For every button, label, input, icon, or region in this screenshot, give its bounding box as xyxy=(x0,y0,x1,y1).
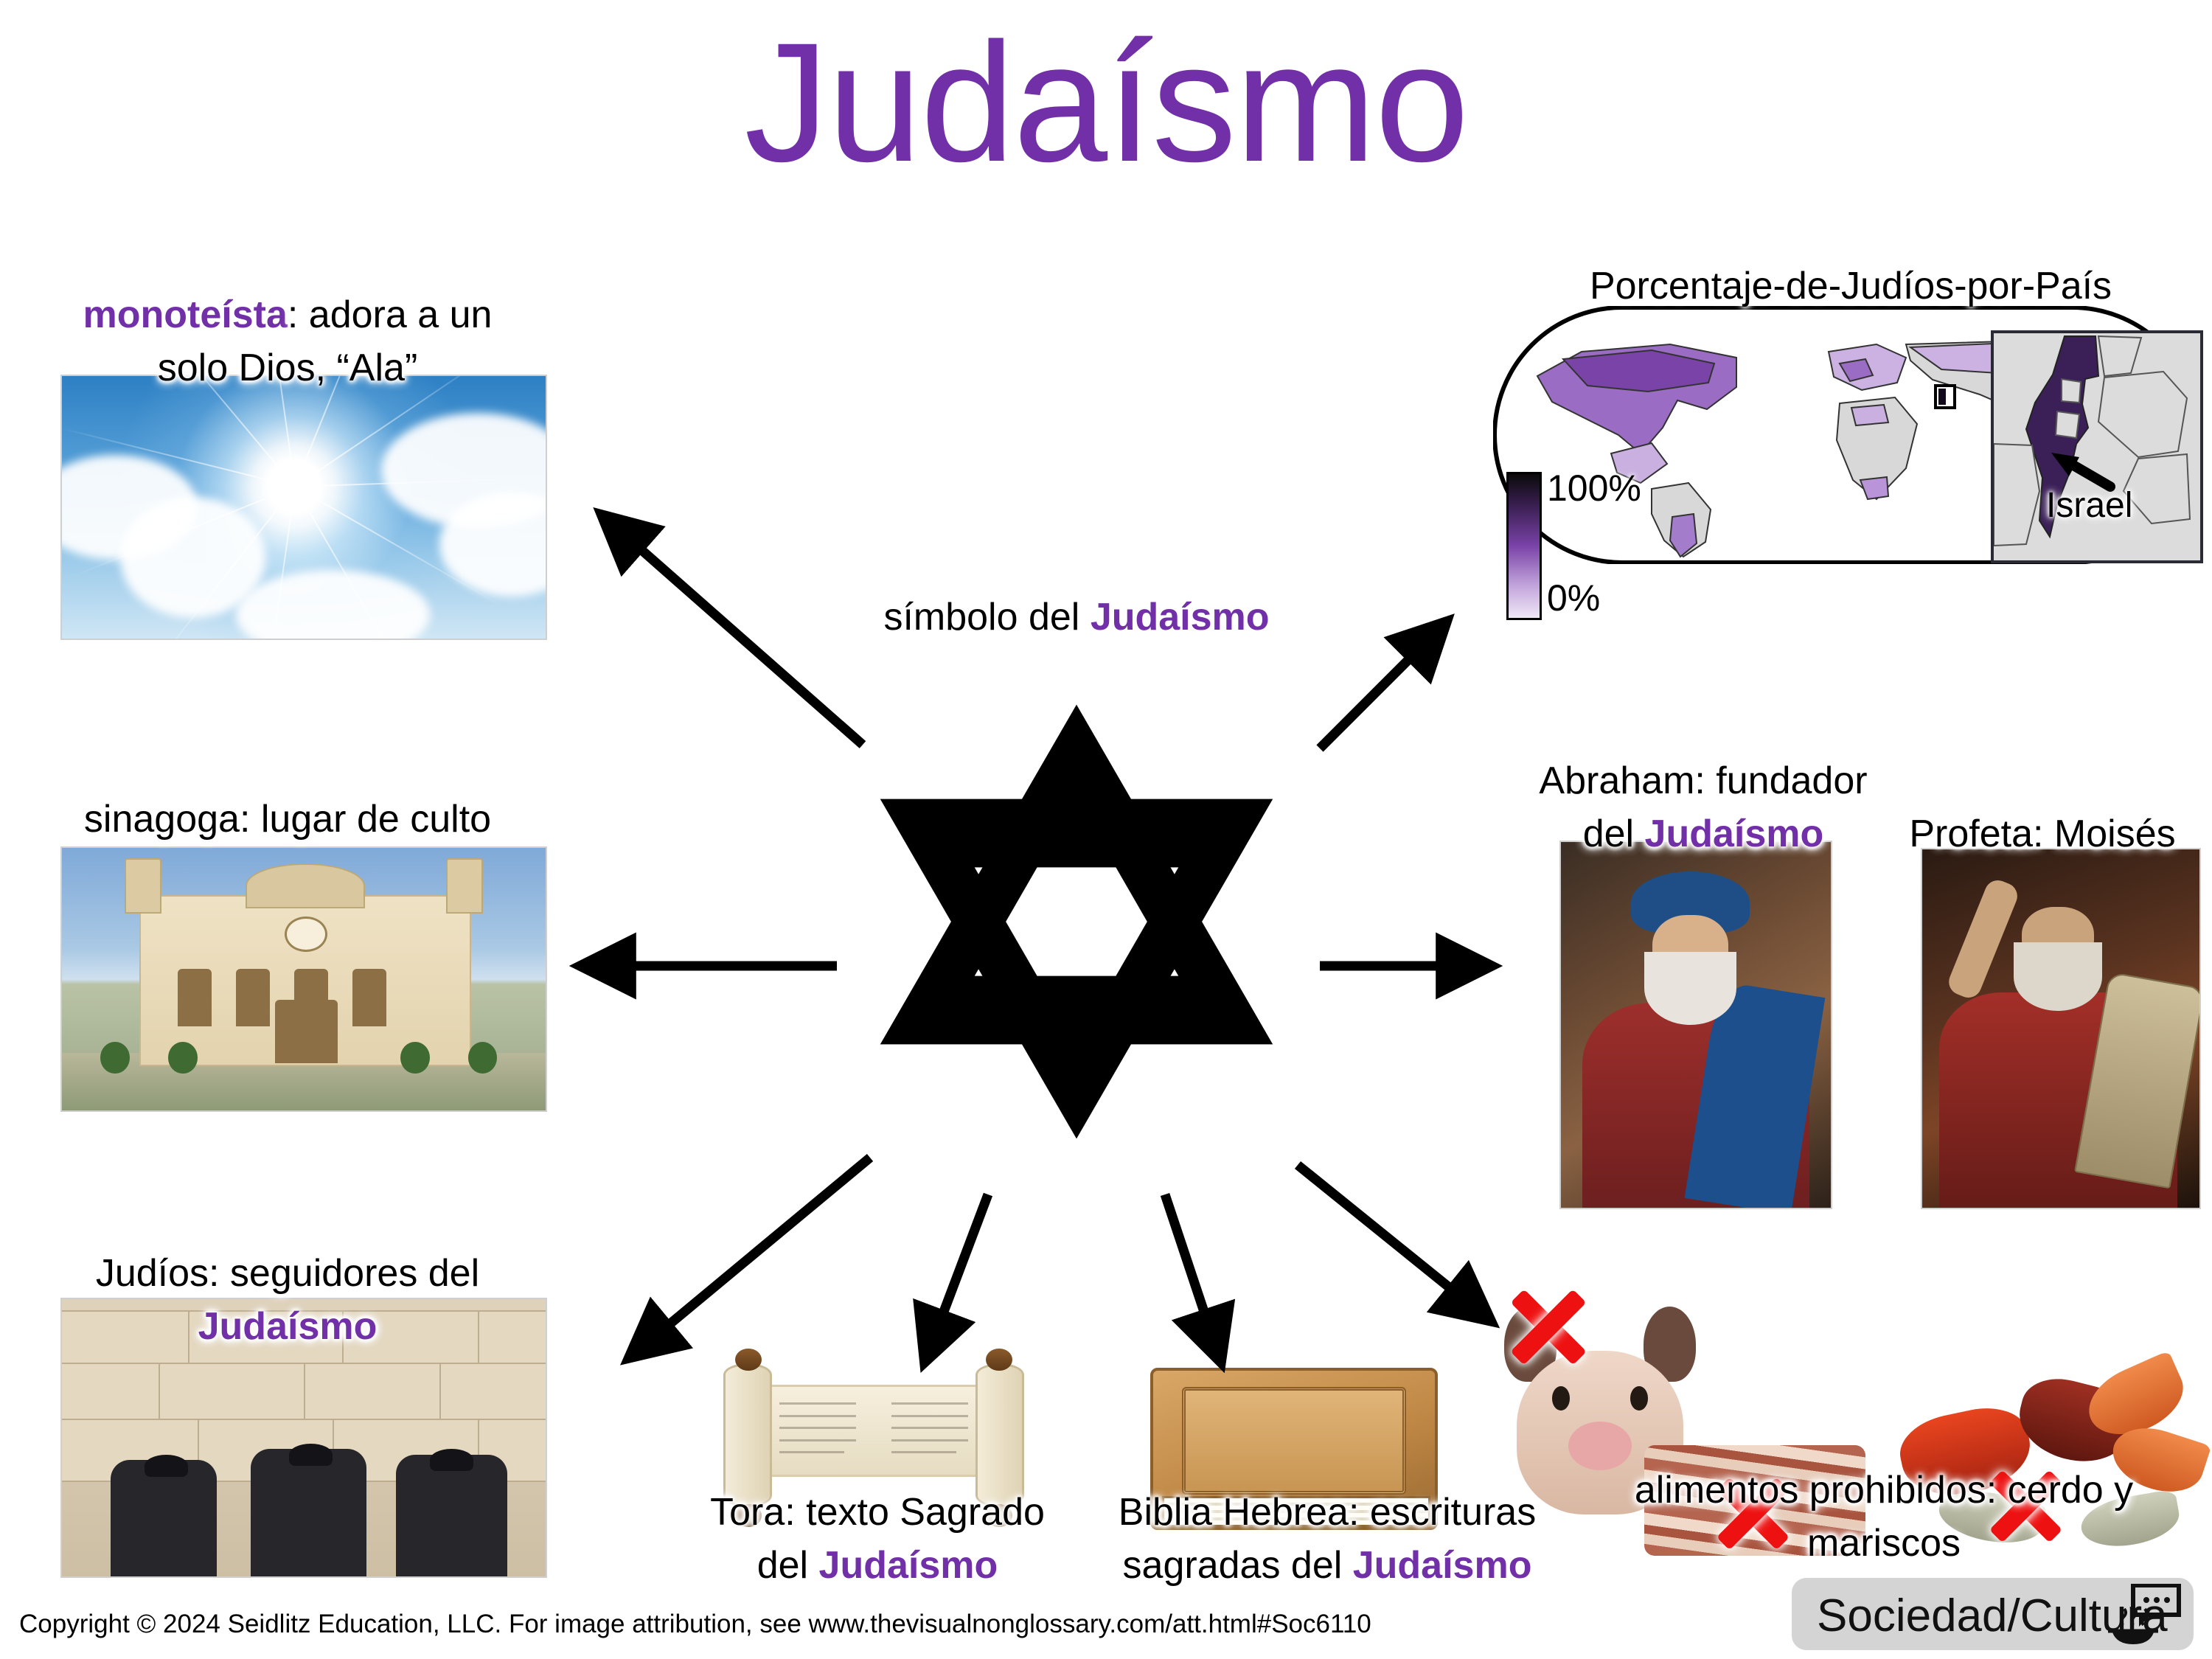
map-legend-high-label: 100% xyxy=(1547,467,1641,509)
torah-keyword: Judaísmo xyxy=(819,1544,998,1587)
torah-label-line2: del Judaísmo xyxy=(634,1544,1121,1587)
monotheist-keyword: monoteísta xyxy=(83,293,288,336)
israel-inset-map xyxy=(1991,330,2203,563)
monotheist-line1-suffix: : adora a un xyxy=(288,293,493,336)
speech-bubble-icon xyxy=(2133,1585,2179,1627)
abraham-line2-prefix: del xyxy=(1583,813,1645,855)
torah-line2-prefix: del xyxy=(757,1544,819,1587)
abraham-keyword: Judaísmo xyxy=(1645,813,1824,855)
synagogue-photo xyxy=(60,846,547,1112)
category-badge: Sociedad/Cultura xyxy=(1792,1578,2194,1650)
abraham-label-line1: Abraham: fundador xyxy=(1445,759,1961,803)
jews-label-keyword: Judaísmo xyxy=(15,1305,560,1349)
category-badge-icons xyxy=(2101,1584,2182,1646)
arrow-to-map xyxy=(1320,623,1445,748)
abraham-painting xyxy=(1559,841,1832,1209)
hebrew-bible-line2-prefix: sagradas del xyxy=(1123,1544,1353,1587)
arrow-to-torah xyxy=(925,1194,988,1360)
center-caption-prefix: símbolo del xyxy=(883,596,1090,639)
hebrew-bible-keyword: Judaísmo xyxy=(1353,1544,1532,1587)
monotheist-label-line2: solo Dios, “Ala” xyxy=(15,347,560,390)
arrow-to-forbidden-foods xyxy=(1298,1165,1489,1320)
forbidden-foods-label-line1: alimentos prohibidos: cerdo y xyxy=(1556,1469,2212,1512)
monotheist-label-line1: monoteísta: adora a un xyxy=(15,293,560,337)
jews-label-line1: Judíos: seguidores del xyxy=(15,1252,560,1295)
israel-label: Israel xyxy=(2046,485,2132,526)
synagogue-label: sinagoga: lugar de culto xyxy=(15,798,560,841)
moses-label: Profeta: Moisés xyxy=(1873,813,2212,856)
torah-scroll-photo xyxy=(726,1360,1021,1512)
hebrew-bible-label-line2: sagradas del Judaísmo xyxy=(1069,1544,1585,1587)
star-of-david-icon xyxy=(841,686,1312,1158)
moses-painting xyxy=(1921,848,2201,1209)
arrow-to-hebrew-bible xyxy=(1165,1194,1220,1360)
center-caption: símbolo del Judaísmo xyxy=(841,596,1312,639)
arrow-to-monotheist xyxy=(603,516,863,745)
map-legend-gradient xyxy=(1506,472,1542,620)
forbidden-foods-label-line2: mariscos xyxy=(1556,1522,2212,1565)
copyright-notice: Copyright © 2024 Seidlitz Education, LLC… xyxy=(19,1610,1371,1639)
arrow-to-jews xyxy=(630,1158,870,1357)
page-title: Judaísmo xyxy=(0,18,2212,187)
map-title: Porcentaje-de-Judíos-por-País xyxy=(1489,264,2212,308)
center-caption-keyword: Judaísmo xyxy=(1091,596,1270,639)
red-x-mark-pig xyxy=(1504,1283,1593,1371)
poster-canvas: Judaísmo símbolo del Judaísmo monoteísta… xyxy=(0,0,2212,1659)
sunny-sky-photo xyxy=(60,375,547,640)
torah-label-line1: Tora: texto Sagrado xyxy=(634,1491,1121,1534)
hebrew-bible-label-line1: Biblia Hebrea: escrituras xyxy=(1069,1491,1585,1534)
map-legend-low-label: 0% xyxy=(1547,577,1600,619)
